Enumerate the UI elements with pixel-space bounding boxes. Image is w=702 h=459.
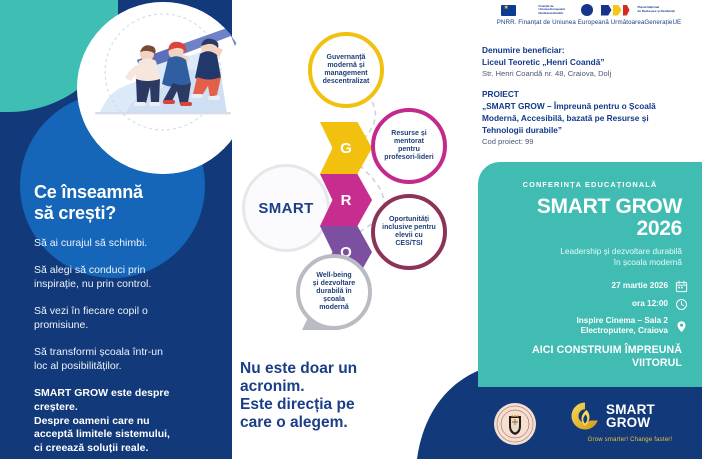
logo-tagline: Grow smarter! Change faster! <box>565 437 695 443</box>
bubble-wellbeing-text: Well-being și dezvoltare durabilă în șco… <box>307 272 361 313</box>
left-title-line2: să crești? <box>34 203 216 224</box>
conference-title-line1: SMART GROW <box>478 196 682 218</box>
acronym-statement: Nu este doar un acronim. Este direcția p… <box>240 360 455 432</box>
meta-row-venue: Inspire Cinema – Sala 2 Electroputere, C… <box>478 316 702 337</box>
bubble-opportunities-text: Oportunități inclusive pentru elevii cu … <box>376 216 442 248</box>
smart-core-label: SMART <box>258 200 313 217</box>
bubble-resources: Resurse și mentorat pentru profesori-lid… <box>371 108 447 184</box>
pnrr-label: Planul Național de Redresare și Rezilien… <box>638 6 678 13</box>
left-title-line1: Ce înseamnă <box>34 182 216 203</box>
left-line-1: Să ai curajul să schimbi. <box>34 237 216 251</box>
bubble-opportunities: Oportunități inclusive pentru elevii cu … <box>371 194 447 270</box>
logo-word-grow: GROW <box>606 416 655 429</box>
letter-chevron-r: R <box>320 174 372 226</box>
conference-date: 27 martie 2026 <box>612 281 668 291</box>
funding-logos-row: Finanțat de Uniunea Europeană NextGenera… <box>478 2 700 18</box>
beneficiary-block: Denumire beneficiar: Liceul Teoretic „He… <box>482 44 697 147</box>
eu-flag-icon <box>501 4 531 17</box>
beneficiary-label: Denumire beneficiar: <box>482 44 697 56</box>
left-line-4: Să transformi școala într-un loc al posi… <box>34 346 216 374</box>
smart-grow-logo: SMART GROW <box>570 401 655 431</box>
conference-meta: 27 martie 2026 ora 12:00 <box>478 280 702 342</box>
calendar-icon <box>675 280 688 293</box>
bubble-governance-text: Guvernanță modernă și management descent… <box>317 54 376 86</box>
school-crest-seal-icon <box>494 403 536 445</box>
conference-panel: CONFERINȚA EDUCAȚIONALĂ SMART GROW 2026 … <box>478 162 702 387</box>
bubble-wellbeing: Well-being și dezvoltare durabilă în șco… <box>296 254 372 330</box>
conference-kicker: CONFERINȚA EDUCAȚIONALĂ <box>478 180 702 189</box>
beneficiary-name: Liceul Teoretic „Henri Coandă” <box>482 56 697 68</box>
project-label: PROIECT <box>482 88 697 100</box>
clock-icon <box>675 298 688 311</box>
center-column: SMART G R O W Guvernanță modernă și mana… <box>232 0 470 459</box>
left-line-3: Să vezi în fiecare copil o promisiune. <box>34 305 216 333</box>
romania-coat-of-arms-icon <box>581 4 593 16</box>
bubble-governance: Guvernanță modernă și management descent… <box>308 32 384 108</box>
eu-funding-label: Finanțat de Uniunea Europeană NextGenera… <box>539 5 573 15</box>
hero-illustration <box>77 2 249 174</box>
conference-cta: AICI CONSTRUIM ÎMPREUNĂ VIITORUL <box>478 344 682 371</box>
smart-grow-mark-icon <box>570 401 600 431</box>
conference-venue: Inspire Cinema – Sala 2 Electroputere, C… <box>577 316 668 337</box>
poster-canvas: Ce înseamnă să crești? Să ai curajul să … <box>0 0 702 459</box>
meta-row-date: 27 martie 2026 <box>478 280 702 293</box>
pnrr-caption: PNRR. Finanțat de Uniunea Europeană Urmă… <box>478 19 700 26</box>
right-column: Finanțat de Uniunea Europeană NextGenera… <box>470 0 702 459</box>
conference-title: SMART GROW 2026 <box>478 196 682 241</box>
letter-r: R <box>341 192 352 209</box>
footer-band: SMART GROW Grow smarter! Change faster! <box>470 387 702 459</box>
bubble-resources-text: Resurse și mentorat pentru profesori-lid… <box>378 130 439 162</box>
beneficiary-address: Str. Henri Coandă nr. 48, Craiova, Dolj <box>482 68 697 79</box>
letter-g: G <box>340 140 352 157</box>
pnrr-arrow-icon <box>601 5 630 16</box>
left-line-2: Să alegi să conduci prin inspirație, nu … <box>34 264 216 292</box>
smart-grow-wordmark: SMART GROW <box>606 403 655 429</box>
left-panel: Ce înseamnă să crești? Să ai curajul să … <box>0 0 232 459</box>
left-title: Ce înseamnă să crești? <box>34 182 216 224</box>
left-statement: SMART GROW este despre creștere. Despre … <box>34 387 216 455</box>
left-copy: Ce înseamnă să crești? Să ai curajul să … <box>34 182 216 456</box>
smart-core-circle: SMART <box>242 164 330 252</box>
project-name: „SMART GROW – Împreună pentru o Școală M… <box>482 100 697 136</box>
conference-time: ora 12:00 <box>632 299 668 309</box>
location-pin-icon <box>675 320 688 333</box>
project-code: Cod proiect: 99 <box>482 136 697 147</box>
smart-grow-diagram: SMART G R O W Guvernanță modernă și mana… <box>232 14 470 354</box>
meta-row-time: ora 12:00 <box>478 298 702 311</box>
conference-title-line2: 2026 <box>478 218 682 240</box>
three-people-carrying-growth-arrow-icon <box>77 2 249 174</box>
letter-chevron-g: G <box>320 122 372 174</box>
conference-subtitle: Leadership și dezvoltare durabilă în șco… <box>478 246 682 268</box>
